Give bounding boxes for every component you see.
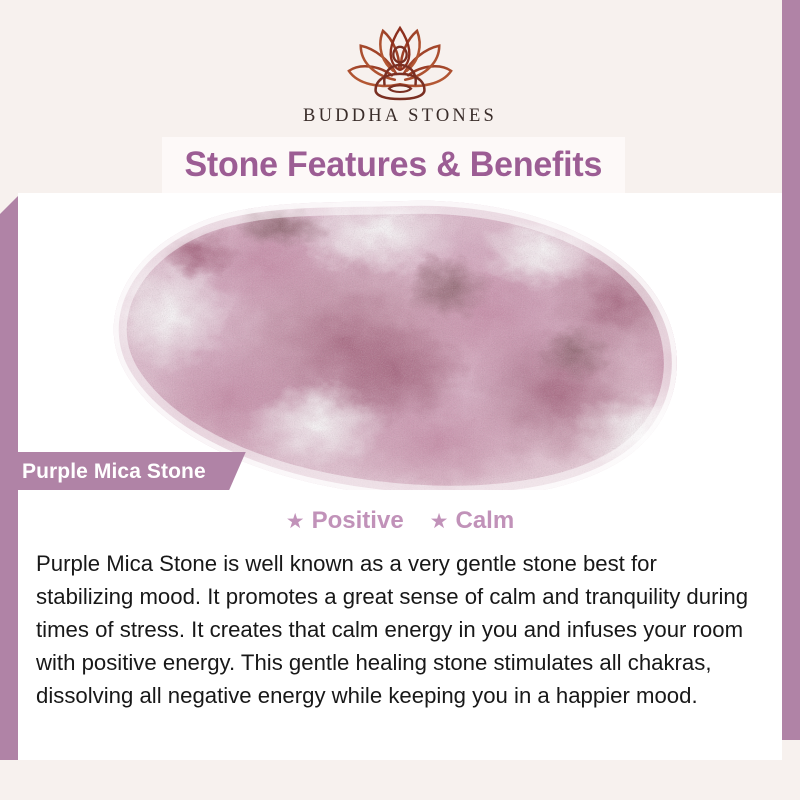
infographic-page: BUDDHA STONES Stone Features & Benefits [0,0,800,800]
purple-mica-stone-photo [18,193,782,490]
title-banner: Stone Features & Benefits [162,137,625,193]
brand-name: BUDDHA STONES [303,106,497,127]
stone-description-text: Purple Mica Stone is well known as a ver… [36,547,753,712]
star-icon: ★ [286,511,305,532]
frame-band-right [782,0,800,740]
benefit-tag-label: Calm [456,507,515,535]
lotus-meditation-icon [336,22,464,102]
benefit-tag-positive: ★ Positive [286,507,404,535]
bottom-cream-strip [0,760,800,800]
stone-name-badge: Purple Mica Stone [0,452,246,491]
stone-name-label: Purple Mica Stone [22,460,206,484]
description-panel: ★ Positive ★ Calm Purple Mica Stone is w… [18,490,782,760]
benefit-tag-calm: ★ Calm [430,507,515,535]
brand-header: BUDDHA STONES [18,0,782,140]
benefit-tag-label: Positive [312,507,404,535]
star-icon: ★ [430,511,449,532]
benefit-tags: ★ Positive ★ Calm [18,490,782,535]
page-title: Stone Features & Benefits [185,145,603,185]
